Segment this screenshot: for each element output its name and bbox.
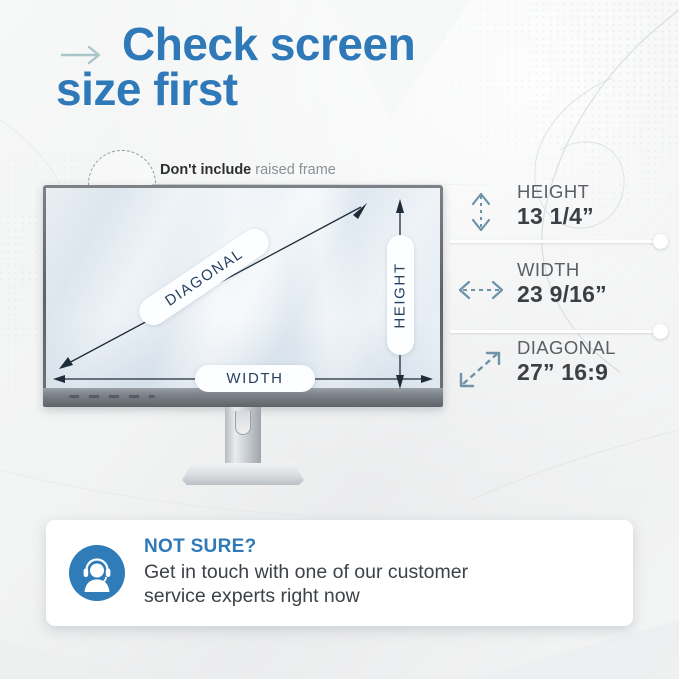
measure-separator-1: [450, 240, 660, 243]
measure-label: WIDTH: [517, 260, 607, 280]
cta-body-line-1: Get in touch with one of our customer: [144, 561, 468, 585]
cta-body: Get in touch with one of our customer se…: [144, 561, 468, 609]
arrow-up-down-icon: [455, 186, 507, 238]
measure-value: 27” 16:9: [517, 359, 616, 385]
headline-block: Check screen size first: [56, 22, 616, 112]
measure-separator-2: [450, 330, 660, 333]
monitor-stand-base: [182, 463, 304, 485]
height-label-pill: HEIGHT: [387, 235, 414, 355]
frame-note-strong: Don't include: [160, 162, 251, 178]
cta-text-block: NOT SURE? Get in touch with one of our c…: [144, 536, 468, 611]
monitor-illustration: DIAGONAL HEIGHT WIDTH: [43, 185, 443, 490]
stand-cable-slot: [235, 411, 251, 435]
cta-title: NOT SURE?: [144, 536, 468, 558]
arrow-right-icon: [60, 44, 106, 66]
headline-line-1: Check screen: [56, 22, 616, 67]
arrow-left-right-icon: [455, 264, 507, 316]
cta-body-line-2: service experts right now: [144, 585, 468, 609]
frame-note: Don't include raised frame: [160, 162, 336, 178]
poster-root: Check screen size first Don't include ra…: [0, 0, 679, 679]
headline-line-2: size first: [56, 67, 616, 112]
width-label: WIDTH: [226, 370, 283, 387]
frame-note-light: raised frame: [251, 162, 336, 178]
monitor-stand-neck: [225, 407, 261, 469]
monitor-screen: [46, 188, 440, 388]
measure-label: HEIGHT: [517, 182, 594, 202]
measure-row-width: WIDTH 23 9/16”: [455, 256, 679, 334]
measure-value: 13 1/4”: [517, 203, 594, 229]
measurement-panel: HEIGHT 13 1/4” WIDTH 23 9/16”: [455, 178, 679, 412]
monitor-control-marks: [69, 395, 155, 398]
arrow-diagonal-icon: [455, 342, 507, 394]
width-label-pill: WIDTH: [195, 365, 315, 392]
headset-agent-icon: [68, 544, 126, 602]
measure-row-diagonal: DIAGONAL 27” 16:9: [455, 334, 679, 412]
page-title: Check screen size first: [56, 22, 616, 112]
contact-cta-card[interactable]: NOT SURE? Get in touch with one of our c…: [46, 520, 633, 626]
measure-value: 23 9/16”: [517, 281, 607, 307]
height-label: HEIGHT: [392, 262, 409, 328]
measure-row-height: HEIGHT 13 1/4”: [455, 178, 679, 256]
measure-label: DIAGONAL: [517, 338, 616, 358]
